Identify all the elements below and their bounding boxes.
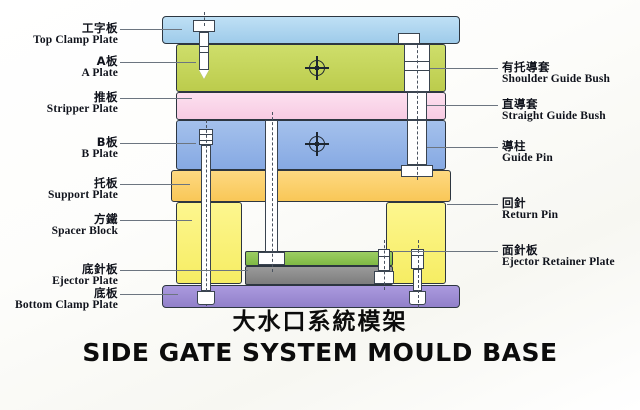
leader-spacer-block [120,220,192,221]
label-return-pin-en: Return Pin [502,209,640,221]
return-pin-axis-left [206,120,207,306]
label-b-plate-en: B Plate [0,148,118,160]
label-stripper-plate-en: Stripper Plate [0,103,118,115]
cap-screw-shank-top-left [199,32,209,70]
part-ejector-plate [245,266,393,285]
figure-title-chinese: 大水口系統模架 [0,308,640,337]
leader-straight-guide-bush [427,105,498,106]
diagram-canvas: 工字板 Top Clamp Plate A板 A Plate 推板 Stripp… [0,0,640,410]
label-ejector-plate-cn: 底針板 [0,263,118,275]
label-stripper-plate-cn: 推板 [0,91,118,103]
label-top-clamp-plate-en: Top Clamp Plate [0,34,118,46]
cap-screw-axis-top-left [204,12,205,26]
label-spacer-block: 方鐵 Spacer Block [0,213,118,237]
cap-screw-point-top-left [199,70,209,79]
label-ejector-retainer-plate-en: Ejector Retainer Plate [502,256,640,268]
leader-return-pin [447,204,498,205]
ejector-pin-axis-right [384,240,385,290]
label-shoulder-guide-bush-cn: 有托導套 [502,61,640,73]
label-a-plate-cn: A板 [0,55,118,67]
leader-stripper-plate [120,98,192,99]
leader-top-clamp-plate [120,29,182,30]
label-a-plate: A板 A Plate [0,55,118,79]
center-mark-dot [315,66,319,70]
cap-screw-thread-line-2 [199,52,209,53]
label-stripper-plate: 推板 Stripper Plate [0,91,118,115]
part-stripper-plate [176,92,446,120]
label-straight-guide-bush-en: Straight Guide Bush [502,110,640,122]
label-a-plate-en: A Plate [0,67,118,79]
label-ejector-plate: 底針板 Ejector Plate [0,263,118,287]
label-spacer-block-en: Spacer Block [0,225,118,237]
label-shoulder-guide-bush-en: Shoulder Guide Bush [502,73,640,85]
center-mark-dot [315,142,319,146]
label-ejector-retainer-plate-cn: 面針板 [502,244,640,256]
label-support-plate-en: Support Plate [0,189,118,201]
label-ejector-retainer-plate: 面針板 Ejector Retainer Plate [502,244,640,268]
label-spacer-block-cn: 方鐵 [0,213,118,225]
label-top-clamp-plate-cn: 工字板 [0,22,118,34]
label-top-clamp-plate: 工字板 Top Clamp Plate [0,22,118,46]
leader-ejector-plate [120,270,248,271]
label-guide-pin-en: Guide Pin [502,152,640,164]
label-return-pin-cn: 回針 [502,197,640,209]
figure-title: 大水口系統模架 SIDE GATE SYSTEM MOULD BASE [0,308,640,368]
guide-pin-axis [417,40,418,180]
label-shoulder-guide-bush: 有托導套 Shoulder Guide Bush [502,61,640,85]
leader-ejector-retainer-plate [393,251,498,252]
leader-shoulder-guide-bush [430,68,498,69]
label-b-plate-cn: B板 [0,136,118,148]
leader-guide-pin [427,147,498,148]
label-bottom-clamp-plate-cn: 底板 [0,287,118,299]
cap-screw-thread-line-1 [199,46,209,47]
leader-b-plate [120,143,196,144]
label-guide-pin: 導柱 Guide Pin [502,140,640,164]
return-pin-foot-left [197,291,215,305]
label-guide-pin-cn: 導柱 [502,140,640,152]
label-return-pin: 回針 Return Pin [502,197,640,221]
leader-support-plate [120,184,190,185]
label-straight-guide-bush: 直導套 Straight Guide Bush [502,98,640,122]
label-support-plate: 托板 Support Plate [0,177,118,201]
leader-a-plate [120,62,196,63]
label-b-plate: B板 B Plate [0,136,118,160]
label-support-plate-cn: 托板 [0,177,118,189]
center-mark-b-plate [306,133,328,155]
label-straight-guide-bush-cn: 直導套 [502,98,640,110]
center-mark-a-plate [306,57,328,79]
figure-title-english: SIDE GATE SYSTEM MOULD BASE [0,337,640,368]
ejector-sleeve-axis-center [272,112,273,272]
cap-screw-head-top-right [398,33,420,44]
leader-bottom-clamp-plate [120,294,178,295]
